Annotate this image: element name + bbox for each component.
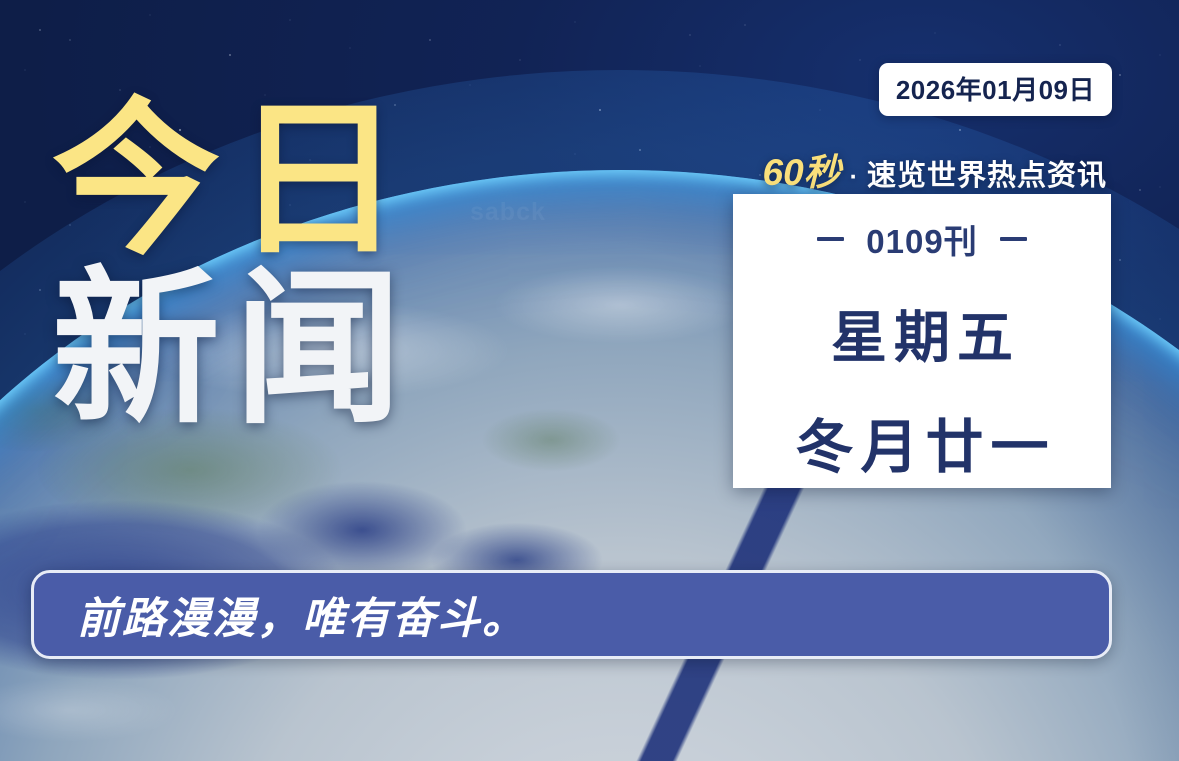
headline-line-2: 新闻 — [52, 269, 416, 430]
issue-row: 0109刊 — [817, 215, 1026, 263]
issue-number: 0109刊 — [866, 215, 977, 263]
quote-text: 前路漫漫，唯有奋斗。 — [77, 584, 527, 646]
headline-line-1: 今日 — [52, 100, 416, 261]
quote-bar: 前路漫漫，唯有奋斗。 — [31, 570, 1112, 659]
tagline: 60秒 · 速览世界热点资讯 — [763, 142, 1108, 196]
news-poster: sabck 今日 新闻 2026年01月09日 60秒 · 速览世界热点资讯 0… — [0, 0, 1179, 761]
lunar-date-label: 冬月廿一 — [788, 400, 1055, 484]
weekday-label: 星期五 — [824, 293, 1020, 374]
date-badge: 2026年01月09日 — [879, 63, 1112, 116]
tagline-seconds: 60秒 — [763, 142, 841, 196]
dash-right-icon — [1000, 237, 1027, 241]
tagline-text: 速览世界热点资讯 — [867, 152, 1107, 194]
tagline-separator-dot: · — [847, 163, 861, 192]
dash-left-icon — [817, 237, 844, 241]
issue-info-card: 0109刊 星期五 冬月廿一 — [733, 194, 1111, 488]
page-title: 今日 新闻 — [52, 100, 416, 431]
watermark-text: sabck — [470, 198, 546, 227]
